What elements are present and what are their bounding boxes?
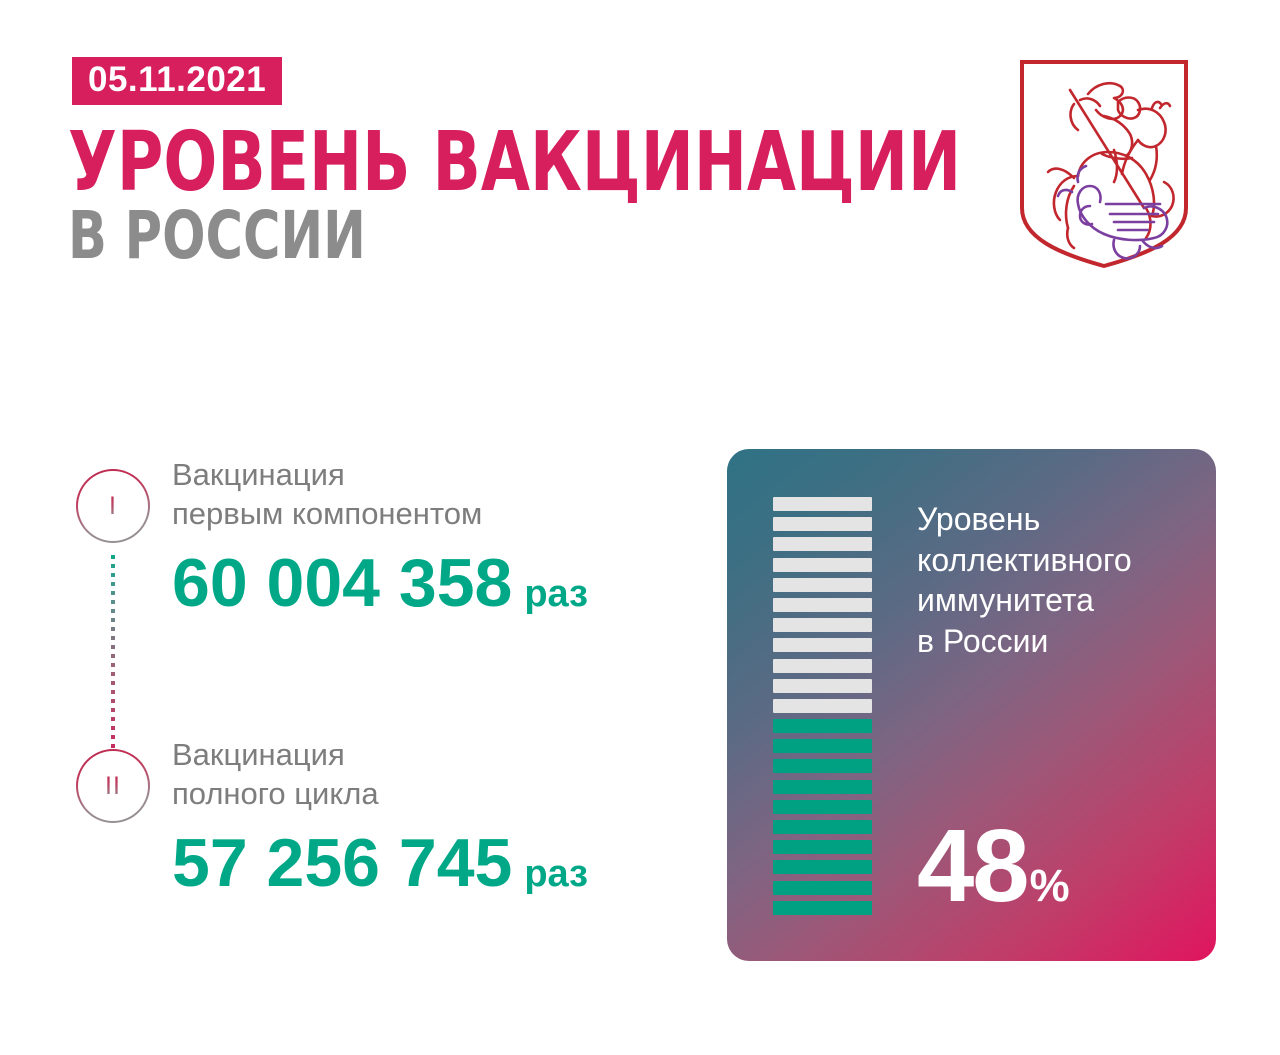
gauge-segment	[773, 497, 872, 511]
stat-row-first-component: I Вакцинация первым компонентом 60 004 3…	[0, 455, 700, 655]
gauge-segment	[773, 558, 872, 572]
statistics-list: I Вакцинация первым компонентом 60 004 3…	[0, 455, 700, 935]
gauge-segment	[773, 537, 872, 551]
immunity-percent-sign: %	[1030, 860, 1070, 911]
stat-unit-full-cycle: раз	[524, 853, 588, 895]
gauge-segment	[773, 901, 872, 915]
stat-text-full-cycle: Вакцинация полного цикла 57 256 745раз	[172, 735, 588, 897]
stat-value-full-cycle: 57 256 745раз	[172, 829, 588, 897]
immunity-percent-value: 48	[917, 808, 1028, 923]
stat-unit-first-component: раз	[524, 573, 588, 615]
stage-badge-one-numeral: I	[109, 494, 117, 519]
gauge-segment	[773, 800, 872, 814]
panel-caption: Уровень коллективного иммунитета в Росси…	[917, 499, 1132, 662]
title-line-secondary: В РОССИИ	[68, 206, 825, 267]
stat-row-full-cycle: II Вакцинация полного цикла 57 256 745ра…	[0, 735, 700, 935]
gauge-segment	[773, 860, 872, 874]
title-line-primary: УРОВЕНЬ ВАКЦИНАЦИИ	[68, 125, 825, 200]
gauge-segment	[773, 699, 872, 713]
gauge-segment	[773, 739, 872, 753]
gauge-segment	[773, 820, 872, 834]
stat-label-first-component: Вакцинация первым компонентом	[172, 455, 588, 533]
immunity-percent: 48%	[917, 814, 1070, 917]
gauge-segment	[773, 719, 872, 733]
stat-number-first-component: 60 004 358	[172, 545, 512, 621]
herd-immunity-panel: Уровень коллективного иммунитета в Росси…	[727, 449, 1216, 961]
stage-badge-one: I	[76, 469, 150, 543]
gauge-segment	[773, 517, 872, 531]
gauge-segment	[773, 881, 872, 895]
stat-label-full-cycle: Вакцинация полного цикла	[172, 735, 588, 813]
stage-badge-two-numeral: II	[105, 774, 121, 799]
gauge-segment	[773, 780, 872, 794]
gauge-segment	[773, 659, 872, 673]
gauge-segment	[773, 618, 872, 632]
stage-badge-two: II	[76, 749, 150, 823]
gauge-segment	[773, 759, 872, 773]
stat-text-first-component: Вакцинация первым компонентом 60 004 358…	[172, 455, 588, 617]
moscow-coat-of-arms-icon	[1018, 58, 1190, 270]
date-badge: 05.11.2021	[72, 57, 282, 105]
stat-number-full-cycle: 57 256 745	[172, 825, 512, 901]
gauge-segment	[773, 578, 872, 592]
gauge-segment	[773, 598, 872, 612]
stat-value-first-component: 60 004 358раз	[172, 549, 588, 617]
gauge-segment	[773, 638, 872, 652]
gauge-segment	[773, 679, 872, 693]
page-title: УРОВЕНЬ ВАКЦИНАЦИИ В РОССИИ	[68, 125, 948, 267]
gauge-segment	[773, 840, 872, 854]
infographic-poster: 05.11.2021 УРОВЕНЬ ВАКЦИНАЦИИ В РОССИИ	[0, 0, 1280, 1055]
immunity-gauge-chart	[773, 497, 872, 915]
